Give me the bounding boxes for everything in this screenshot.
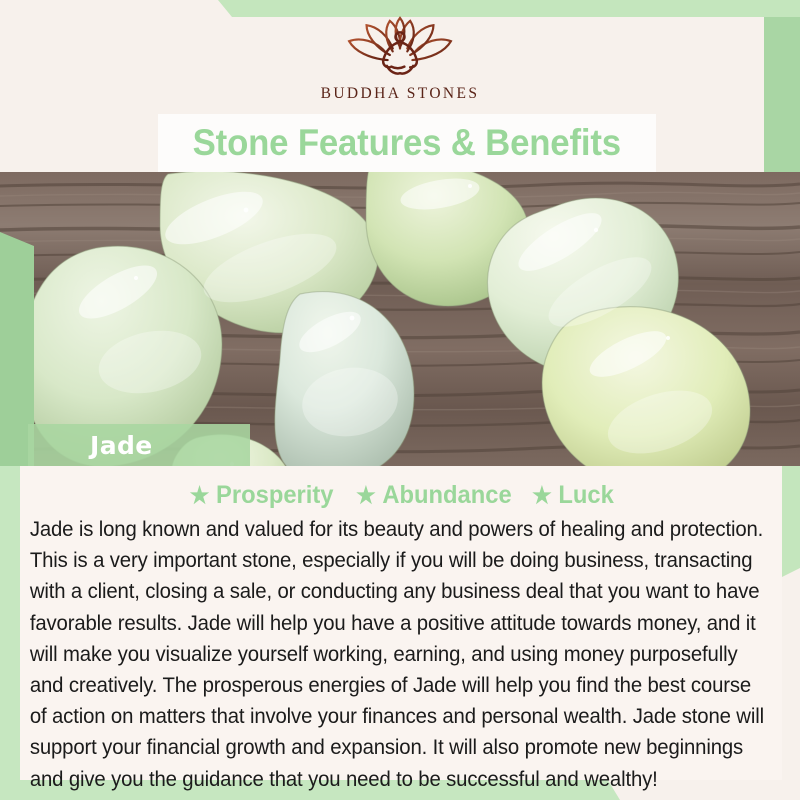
stone-description: Jade is long known and valued for its be… <box>26 514 771 795</box>
page-title: Stone Features & Benefits <box>193 122 621 164</box>
benefit-label: Abundance <box>382 481 511 510</box>
star-icon: ★ <box>190 484 210 507</box>
title-banner: Stone Features & Benefits <box>158 114 656 172</box>
header: BUDDHA STONES <box>0 0 800 118</box>
benefit-label: Prosperity <box>217 481 334 510</box>
poster-root: BUDDHA STONES Stone Features & Benefits <box>0 0 800 800</box>
benefit-item: ★ Luck <box>532 481 614 510</box>
content-panel: ★ Prosperity ★ Abundance ★ Luck Jade is … <box>20 466 782 780</box>
star-icon: ★ <box>356 484 376 507</box>
stone-name-chip: Jade <box>28 424 250 466</box>
benefit-label: Luck <box>558 481 613 510</box>
benefit-item: ★ Abundance <box>356 481 512 510</box>
stone-name-label: Jade <box>90 431 153 460</box>
stone-photo <box>0 172 800 466</box>
benefit-item: ★ Prosperity <box>190 481 334 510</box>
brand-name: BUDDHA STONES <box>321 85 480 103</box>
lotus-meditation-icon <box>341 15 459 79</box>
benefits-row: ★ Prosperity ★ Abundance ★ Luck <box>26 478 776 512</box>
star-icon: ★ <box>532 484 552 507</box>
